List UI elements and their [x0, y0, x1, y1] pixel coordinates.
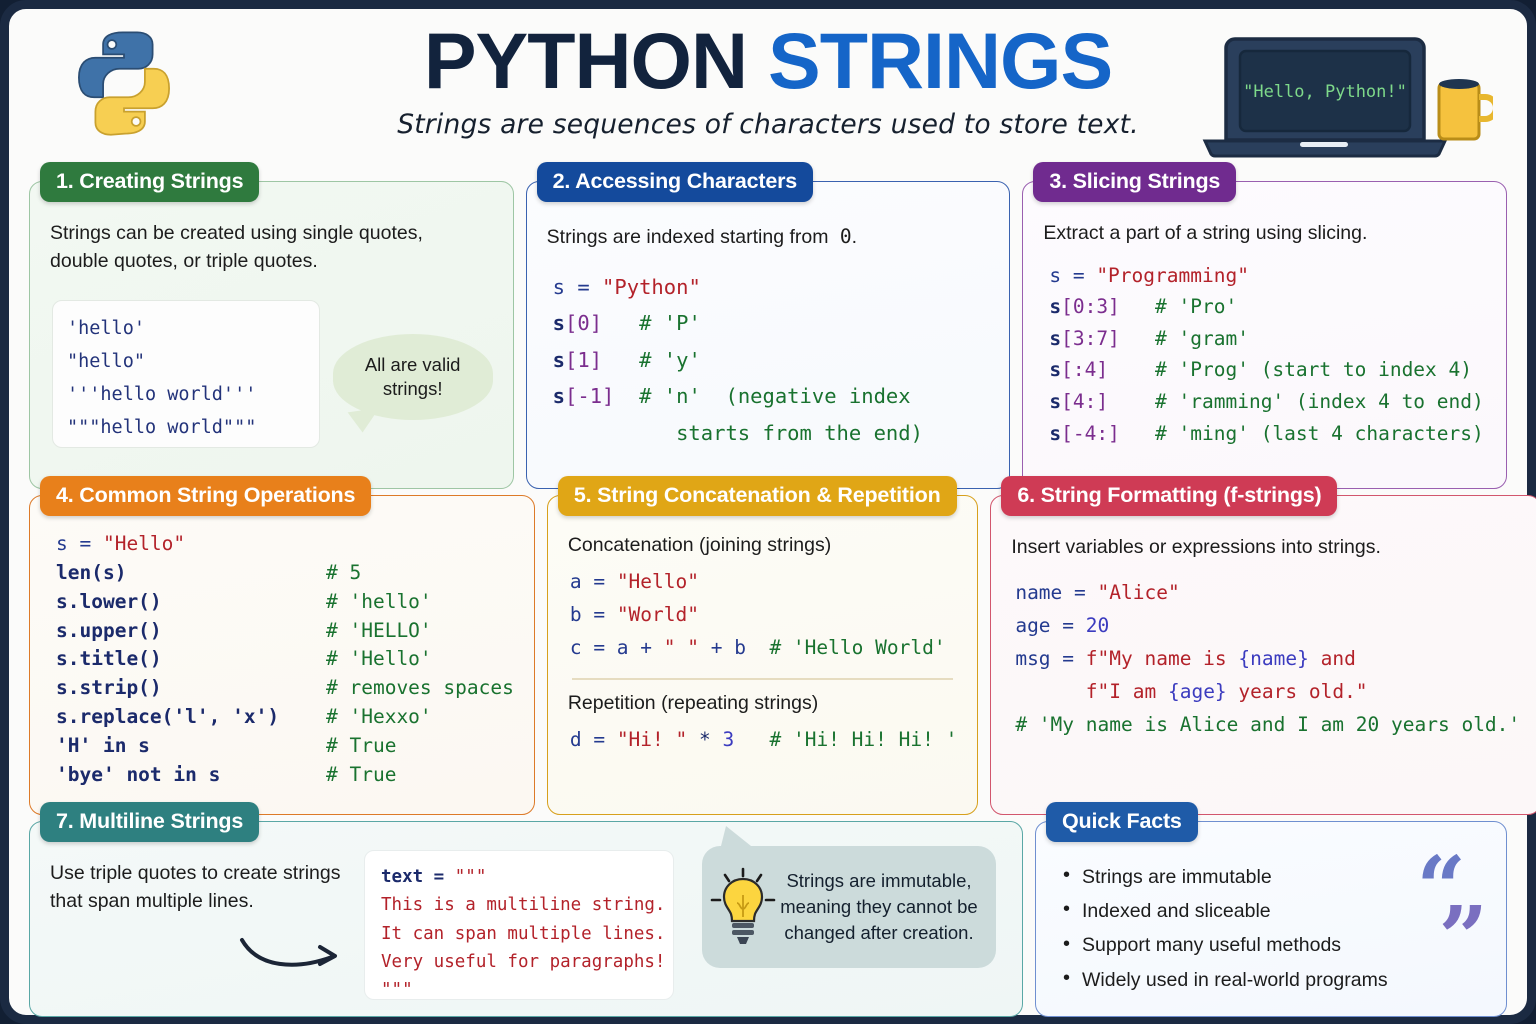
section-card-accessing-characters: 2. Accessing Characters Strings are inde…: [526, 181, 1011, 489]
code-number: 3: [723, 728, 735, 751]
code-expr: s.replace('l', 'x'): [56, 703, 326, 732]
section-badge-5: 5. String Concatenation & Repetition: [558, 476, 957, 516]
section-6-code-block: name = "Alice" age = 20 msg = f"My name …: [1015, 576, 1520, 742]
code-number: 20: [1086, 614, 1109, 637]
code-comment: # 'ramming' (index 4 to end): [1155, 390, 1484, 413]
code-index: [3:7]: [1061, 327, 1120, 350]
code-var: s =: [553, 275, 602, 299]
code-fstring: f"My name is: [1086, 647, 1239, 670]
code-comment: # 'y': [639, 348, 701, 372]
code-string: "Hello": [617, 570, 699, 593]
code-placeholder: {age}: [1168, 680, 1227, 703]
title-python: PYTHON: [424, 16, 747, 105]
section-badge-4: 4. Common String Operations: [40, 476, 371, 516]
code-comment: # 'Hello': [326, 647, 432, 670]
code-operator: *: [687, 728, 722, 751]
subheading-repetition: Repetition (repeating strings): [568, 692, 957, 715]
callout-bubble-immutable: Strings are immutable, meaning they cann…: [702, 846, 996, 968]
section-7-description: Use triple quotes to create strings that…: [50, 860, 350, 915]
section-card-creating-strings: 1. Creating Strings Strings can be creat…: [29, 181, 514, 489]
code-placeholder: {name}: [1238, 647, 1308, 670]
code-comment: # removes spaces: [326, 676, 514, 699]
lightbulb-icon: [710, 867, 776, 947]
code-line: Very useful for paragraphs!: [381, 952, 665, 972]
desc-text-c: .: [852, 226, 857, 248]
code-var: s =: [56, 532, 103, 555]
code-expr: len(s): [56, 559, 326, 588]
code-index: [4:]: [1061, 390, 1108, 413]
section-badge-3: 3. Slicing Strings: [1033, 162, 1236, 202]
code-var: c = a +: [570, 636, 664, 659]
quick-facts-badge: Quick Facts: [1046, 802, 1198, 842]
code-expr: 'H' in s: [56, 732, 326, 761]
code-index: [-4:]: [1061, 422, 1120, 445]
code-comment: # 'gram': [1155, 327, 1249, 350]
code-comment: # 'Hexxo': [326, 705, 432, 728]
code-string: "Hi! ": [617, 728, 687, 751]
code-line: """hello world""": [67, 417, 256, 438]
code-comment: # 'Hello World': [769, 636, 945, 659]
section-card-common-operations: 4. Common String Operations s = "Hello" …: [29, 495, 535, 815]
code-var: text =: [381, 867, 455, 887]
section-5-repeat-code: d = "Hi! " * 3 # 'Hi! Hi! Hi! ': [570, 723, 957, 756]
poster-header: PYTHON STRINGS Strings are sequences of …: [23, 9, 1513, 181]
section-card-slicing-strings: 3. Slicing Strings Extract a part of a s…: [1022, 181, 1507, 489]
code-line: """: [381, 980, 413, 1000]
code-comment: # 'HELLO': [326, 619, 432, 642]
section-5-divider: [572, 678, 953, 679]
code-var: s: [553, 384, 565, 408]
section-3-description: Extract a part of a string using slicing…: [1043, 220, 1486, 248]
poster-frame: PYTHON STRINGS Strings are sequences of …: [0, 0, 1536, 1024]
code-comment: # True: [326, 734, 396, 757]
code-comment: # 'Prog' (start to index 4): [1155, 358, 1472, 381]
section-badge-1: 1. Creating Strings: [40, 162, 259, 202]
code-comment: # 'ming' (last 4 characters): [1155, 422, 1484, 445]
code-var: age =: [1015, 614, 1085, 637]
curved-arrow-icon: [236, 930, 346, 974]
callout-bubble-valid-strings: All are valid strings!: [333, 334, 493, 420]
list-item: Widely used in real-world programs: [1056, 963, 1486, 997]
tip-text: Strings are immutable, meaning they cann…: [776, 868, 982, 947]
desc-text-a: Strings are indexed starting from: [547, 226, 834, 248]
section-badge-2: 2. Accessing Characters: [537, 162, 813, 202]
bubble-text: All are valid strings!: [333, 353, 493, 401]
section-2-description: Strings are indexed starting from 0.: [547, 220, 990, 255]
code-quote: """: [455, 867, 487, 887]
code-tail: + b: [699, 636, 746, 659]
desc-zero: 0: [840, 225, 852, 248]
quotation-mark-close-icon: ”: [1439, 896, 1488, 982]
code-var: b =: [570, 603, 617, 626]
section-1-description: Strings can be created using single quot…: [50, 220, 470, 275]
code-comment: # 'n' (negative index: [639, 384, 911, 408]
section-1-code-block: 'hello' "hello" '''hello world''' """hel…: [52, 300, 320, 448]
code-string: "World": [617, 603, 699, 626]
code-var: s: [1049, 358, 1061, 381]
code-comment: # 'hello': [326, 590, 432, 613]
code-var: a =: [570, 570, 617, 593]
code-line: 'hello': [67, 318, 145, 339]
laptop-icon: "Hello, Python!": [1183, 23, 1493, 168]
code-var: s =: [1049, 264, 1096, 287]
code-comment: # 'P': [639, 311, 701, 335]
code-string: and: [1309, 647, 1356, 670]
code-line: '''hello world''': [67, 384, 256, 405]
code-index: [0:3]: [1061, 295, 1120, 318]
code-string: years old.": [1227, 680, 1368, 703]
section-4-code-block: s = "Hello" len(s)# 5 s.lower()# 'hello'…: [56, 530, 514, 790]
code-comment: # 'Hi! Hi! Hi! ': [769, 728, 957, 751]
section-badge-6: 6. String Formatting (f-strings): [1001, 476, 1337, 516]
code-var: name =: [1015, 581, 1097, 604]
section-badge-7: 7. Multiline Strings: [40, 802, 259, 842]
code-expr: 'bye' not in s: [56, 761, 326, 790]
code-string: "Hello": [103, 532, 185, 555]
section-6-description: Insert variables or expressions into str…: [1011, 534, 1520, 562]
code-comment: # 'My name is Alice and I am 20 years ol…: [1015, 713, 1520, 736]
section-7-code-block: text = """ This is a multiline string. I…: [364, 850, 674, 1000]
code-expr: s.upper(): [56, 617, 326, 646]
code-var: d =: [570, 728, 617, 751]
code-comment: # 5: [326, 561, 361, 584]
laptop-screen-text: "Hello, Python!": [1243, 82, 1407, 102]
code-var: s: [1049, 327, 1061, 350]
section-card-concatenation-repetition: 5. String Concatenation & Repetition Con…: [547, 495, 978, 815]
code-var: s: [1049, 390, 1061, 413]
code-string: " ": [664, 636, 699, 659]
code-line: It can span multiple lines.: [381, 924, 665, 944]
subheading-concatenation: Concatenation (joining strings): [568, 534, 957, 557]
code-var: s: [553, 348, 565, 372]
code-string: "Programming": [1096, 264, 1249, 287]
code-index: [0]: [565, 311, 602, 335]
code-index: [-1]: [565, 384, 614, 408]
code-fstring: f"I am: [1086, 680, 1168, 703]
code-expr: s.strip(): [56, 674, 326, 703]
code-string: "Python": [602, 275, 701, 299]
title-strings: STRINGS: [768, 16, 1112, 105]
section-3-code-block: s = "Programming" s[0:3] # 'Pro' s[3:7] …: [1049, 260, 1486, 449]
code-expr: s.lower(): [56, 588, 326, 617]
code-comment: # 'Pro': [1155, 295, 1237, 318]
code-index: [:4]: [1061, 358, 1108, 381]
code-line: This is a multiline string.: [381, 895, 665, 915]
code-string: "Alice": [1098, 581, 1180, 604]
section-card-string-formatting: 6. String Formatting (f-strings) Insert …: [990, 495, 1536, 815]
section-card-multiline-strings: 7. Multiline Strings Use triple quotes t…: [29, 821, 1023, 1017]
code-index: [1]: [565, 348, 602, 372]
section-2-code-block: s = "Python" s[0] # 'P' s[1] # 'y' s[-1]…: [553, 269, 990, 451]
code-comment-cont: starts from the end): [676, 421, 923, 445]
code-var: msg =: [1015, 647, 1085, 670]
code-comment: # True: [326, 763, 396, 786]
code-var: s: [553, 311, 565, 335]
section-card-quick-facts: Quick Facts Strings are immutable Indexe…: [1035, 821, 1507, 1017]
code-var: s: [1049, 295, 1061, 318]
section-5-concat-code: a = "Hello" b = "World" c = a + " " + b …: [570, 565, 957, 664]
code-line: "hello": [67, 351, 145, 372]
code-var: s: [1049, 422, 1061, 445]
code-expr: s.title(): [56, 645, 326, 674]
